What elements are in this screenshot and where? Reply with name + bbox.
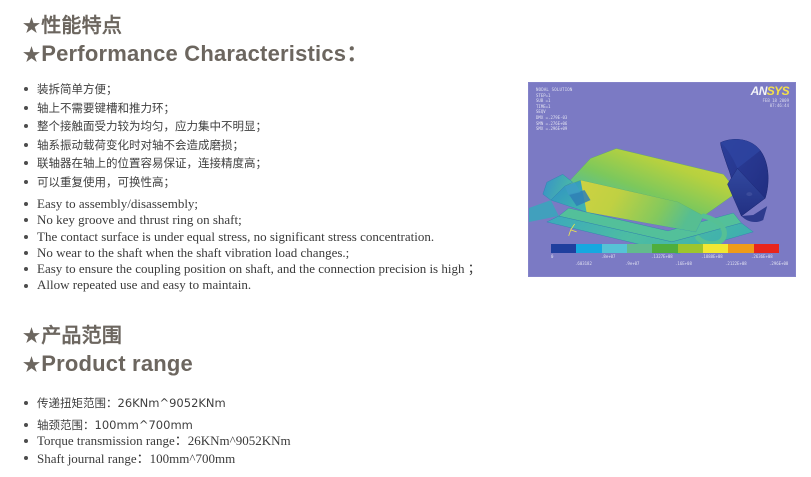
colorbar-band <box>652 244 677 253</box>
colorbar-tick: .1888E+08 <box>701 254 723 259</box>
colorbar-tick: .296E+08 <box>769 261 788 266</box>
list-item: 联轴器在轴上的位置容易保证，连接精度高； <box>23 154 267 173</box>
colorbar-band <box>703 244 728 253</box>
list-item: Shaft journal range：100mm^700mm <box>23 450 291 468</box>
ansys-logo-an: AN <box>751 84 767 98</box>
ansys-logo: ANSYS <box>751 85 789 98</box>
performance-bullets-en: Easy to assembly/disassembly; No key gro… <box>23 196 481 294</box>
star-icon: ★ <box>23 46 40 65</box>
list-item: Easy to assembly/disassembly; <box>23 196 481 212</box>
performance-heading-cn-text: 性能特点 <box>41 15 122 37</box>
list-item: Allow repeated use and easy to maintain. <box>23 277 481 293</box>
list-item: Easy to ensure the coupling position on … <box>23 261 481 277</box>
performance-bullets-cn: 装拆简单方便； 轴上不需要键槽和推力环； 整个接触面受力较为均匀，应力集中不明显… <box>23 80 267 191</box>
fea-info-line: SEQV <box>536 109 546 114</box>
colorbar-tick: .16E+08 <box>675 261 692 266</box>
list-item: The contact surface is under equal stres… <box>23 229 481 245</box>
colorbar-tick: .2122E+08 <box>725 261 747 266</box>
product-range-heading-cn: ★产品范围 <box>23 324 193 349</box>
list-item: 传递扭矩范围：26KNm^9052KNm <box>23 392 226 414</box>
ansys-date-stamp: FEB 18 2009 07:46:44 <box>763 98 790 109</box>
performance-heading-en: ★Performance Characteristics： <box>23 39 368 68</box>
star-icon: ★ <box>23 356 40 375</box>
colorbar-band <box>678 244 703 253</box>
fea-info-title: NODAL SOLUTION <box>536 87 573 92</box>
fea-colorbar <box>551 244 779 253</box>
fea-info-line: SMX =.296E+09 <box>536 126 567 131</box>
performance-heading-cn: ★性能特点 <box>23 14 368 39</box>
star-icon: ★ <box>23 327 40 346</box>
colorbar-tick: .2636E+08 <box>751 254 773 259</box>
colorbar-band <box>754 244 779 253</box>
fea-info-line: DMX =.279E-03 <box>536 115 567 120</box>
product-range-bullets-en: Torque transmission range：26KNm^9052KNm … <box>23 432 291 467</box>
product-spec-page: ★性能特点 ★Performance Characteristics： 装拆简单… <box>0 0 811 477</box>
product-range-heading: ★产品范围 ★Product range <box>23 324 193 378</box>
fea-info-line: TIME=1 <box>536 104 550 109</box>
ansys-fea-figure: NODAL SOLUTION STEP=1 SUB =1 TIME=1 SEQV… <box>528 82 796 277</box>
colorbar-band <box>576 244 601 253</box>
list-item: No key groove and thrust ring on shaft; <box>23 212 481 228</box>
product-range-bullets-cn: 传递扭矩范围：26KNm^9052KNm 轴颈范围：100mm^700mm <box>23 392 226 436</box>
colorbar-band <box>551 244 576 253</box>
product-range-heading-en-text: Product range <box>41 351 193 376</box>
list-item: No wear to the shaft when the shaft vibr… <box>23 245 481 261</box>
product-range-heading-en: ★Product range <box>23 349 193 378</box>
ansys-logo-sys: SYS <box>767 84 789 98</box>
list-item: Torque transmission range：26KNm^9052KNm <box>23 432 291 450</box>
fea-info-line: SMN =.276E+06 <box>536 121 567 126</box>
colorbar-tick: .603182 <box>575 261 592 266</box>
colorbar-band <box>627 244 652 253</box>
colorbar-tick: .8e+07 <box>601 254 615 259</box>
performance-heading: ★性能特点 ★Performance Characteristics： <box>23 14 368 68</box>
star-icon: ★ <box>23 17 40 36</box>
fea-colorbar-scale: 0 .8e+07 .1327E+08 .1888E+08 .2636E+08 .… <box>539 254 791 272</box>
list-item: 轴系振动载荷变化时对轴不会造成磨损； <box>23 136 267 155</box>
list-item: 可以重复使用，可换性高； <box>23 173 267 192</box>
list-item: 装拆简单方便； <box>23 80 267 99</box>
list-item: 轴上不需要键槽和推力环； <box>23 99 267 118</box>
colorbar-band <box>602 244 627 253</box>
fea-info-line: SUB =1 <box>536 98 550 103</box>
colorbar-tick: 0 <box>551 254 553 259</box>
fea-info-line: STEP=1 <box>536 93 550 98</box>
list-item: 整个接触面受力较为均匀，应力集中不明显； <box>23 117 267 136</box>
colorbar-tick: .1327E+08 <box>651 254 673 259</box>
performance-heading-en-text: Performance Characteristics： <box>41 41 368 66</box>
colorbar-tick: .9e+07 <box>625 261 639 266</box>
fea-info-block: NODAL SOLUTION STEP=1 SUB =1 TIME=1 SEQV… <box>536 87 573 132</box>
colorbar-band <box>728 244 753 253</box>
product-range-heading-cn-text: 产品范围 <box>41 325 122 347</box>
